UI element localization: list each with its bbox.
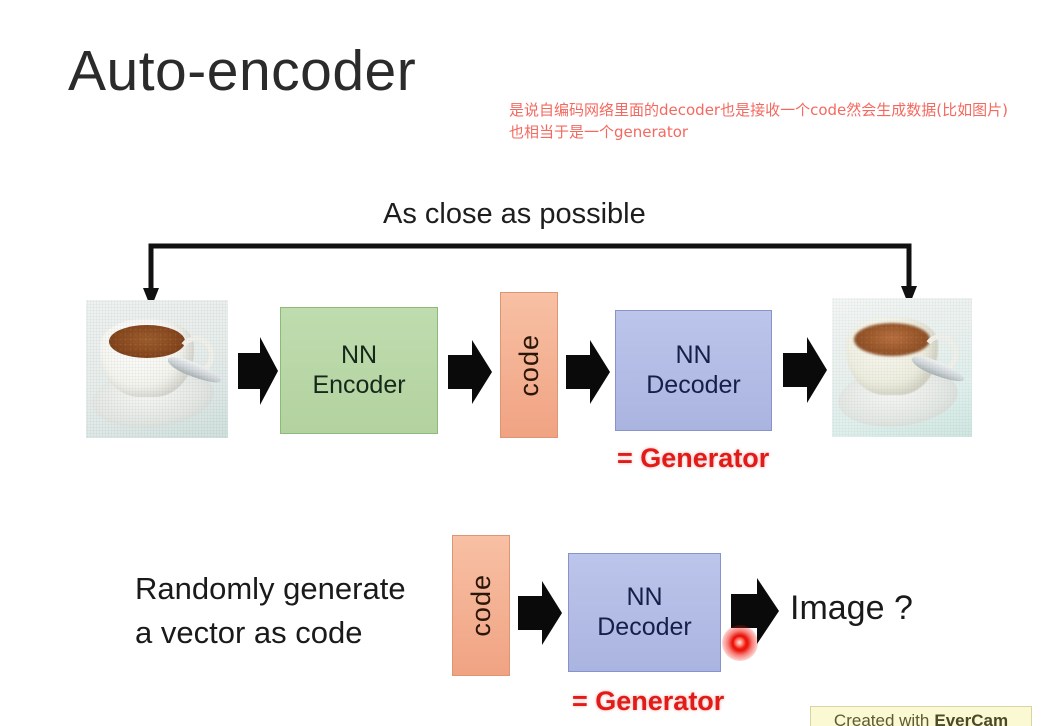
randomly-line-2: a vector as code [135,611,406,655]
arrow-encoder-to-code [448,337,492,407]
code-box-bottom-label: code [466,574,497,637]
nn-encoder-box[interactable]: NN Encoder [280,307,438,434]
decoder-top-label-line1: NN [646,341,741,371]
annotation-line-2: 也相当于是一个generator [509,122,1039,144]
arrow-decoder-to-output [783,334,827,406]
watermark-brand: EverCam [934,711,1008,726]
as-close-as-possible-label: As close as possible [383,198,646,231]
arrow-code-to-decoder-bottom [518,578,562,648]
randomly-generate-text: Randomly generate a vector as code [135,567,406,655]
photo-grain-overlay [86,300,228,438]
nn-decoder-box-top[interactable]: NN Decoder [615,310,772,431]
nn-decoder-box-bottom[interactable]: NN Decoder [568,553,721,672]
decoder-top-label-line2: Decoder [646,371,741,401]
input-image-thumbnail [86,300,228,438]
evercam-watermark: Created with EverCam [810,706,1032,726]
decoder-bottom-label-line1: NN [597,583,692,613]
laser-pointer-dot [722,625,758,661]
output-image-thumbnail [832,298,972,437]
randomly-line-1: Randomly generate [135,567,406,611]
code-box-top[interactable]: code [500,292,558,438]
generator-label-top: = Generator [617,443,769,474]
decoder-bottom-label-line2: Decoder [597,613,692,643]
red-annotation-note: 是说自编码网络里面的decoder也是接收一个code然会生成数据(比如图片) … [509,100,1039,144]
photo-grain-overlay [832,298,972,437]
watermark-prefix: Created with [834,711,929,726]
encoder-label-line1: NN [312,341,405,371]
encoder-label-line2: Encoder [312,371,405,401]
arrow-input-to-encoder [238,333,278,409]
generator-label-bottom: = Generator [572,686,724,717]
arrow-code-to-decoder [566,337,610,407]
annotation-line-1: 是说自编码网络里面的decoder也是接收一个code然会生成数据(比如图片) [509,100,1039,122]
image-question-label: Image ? [790,589,913,628]
code-box-bottom[interactable]: code [452,535,510,676]
page-title: Auto-encoder [68,42,416,102]
code-box-top-label: code [514,334,545,397]
slide-canvas: Auto-encoder 是说自编码网络里面的decoder也是接收一个code… [0,0,1041,726]
